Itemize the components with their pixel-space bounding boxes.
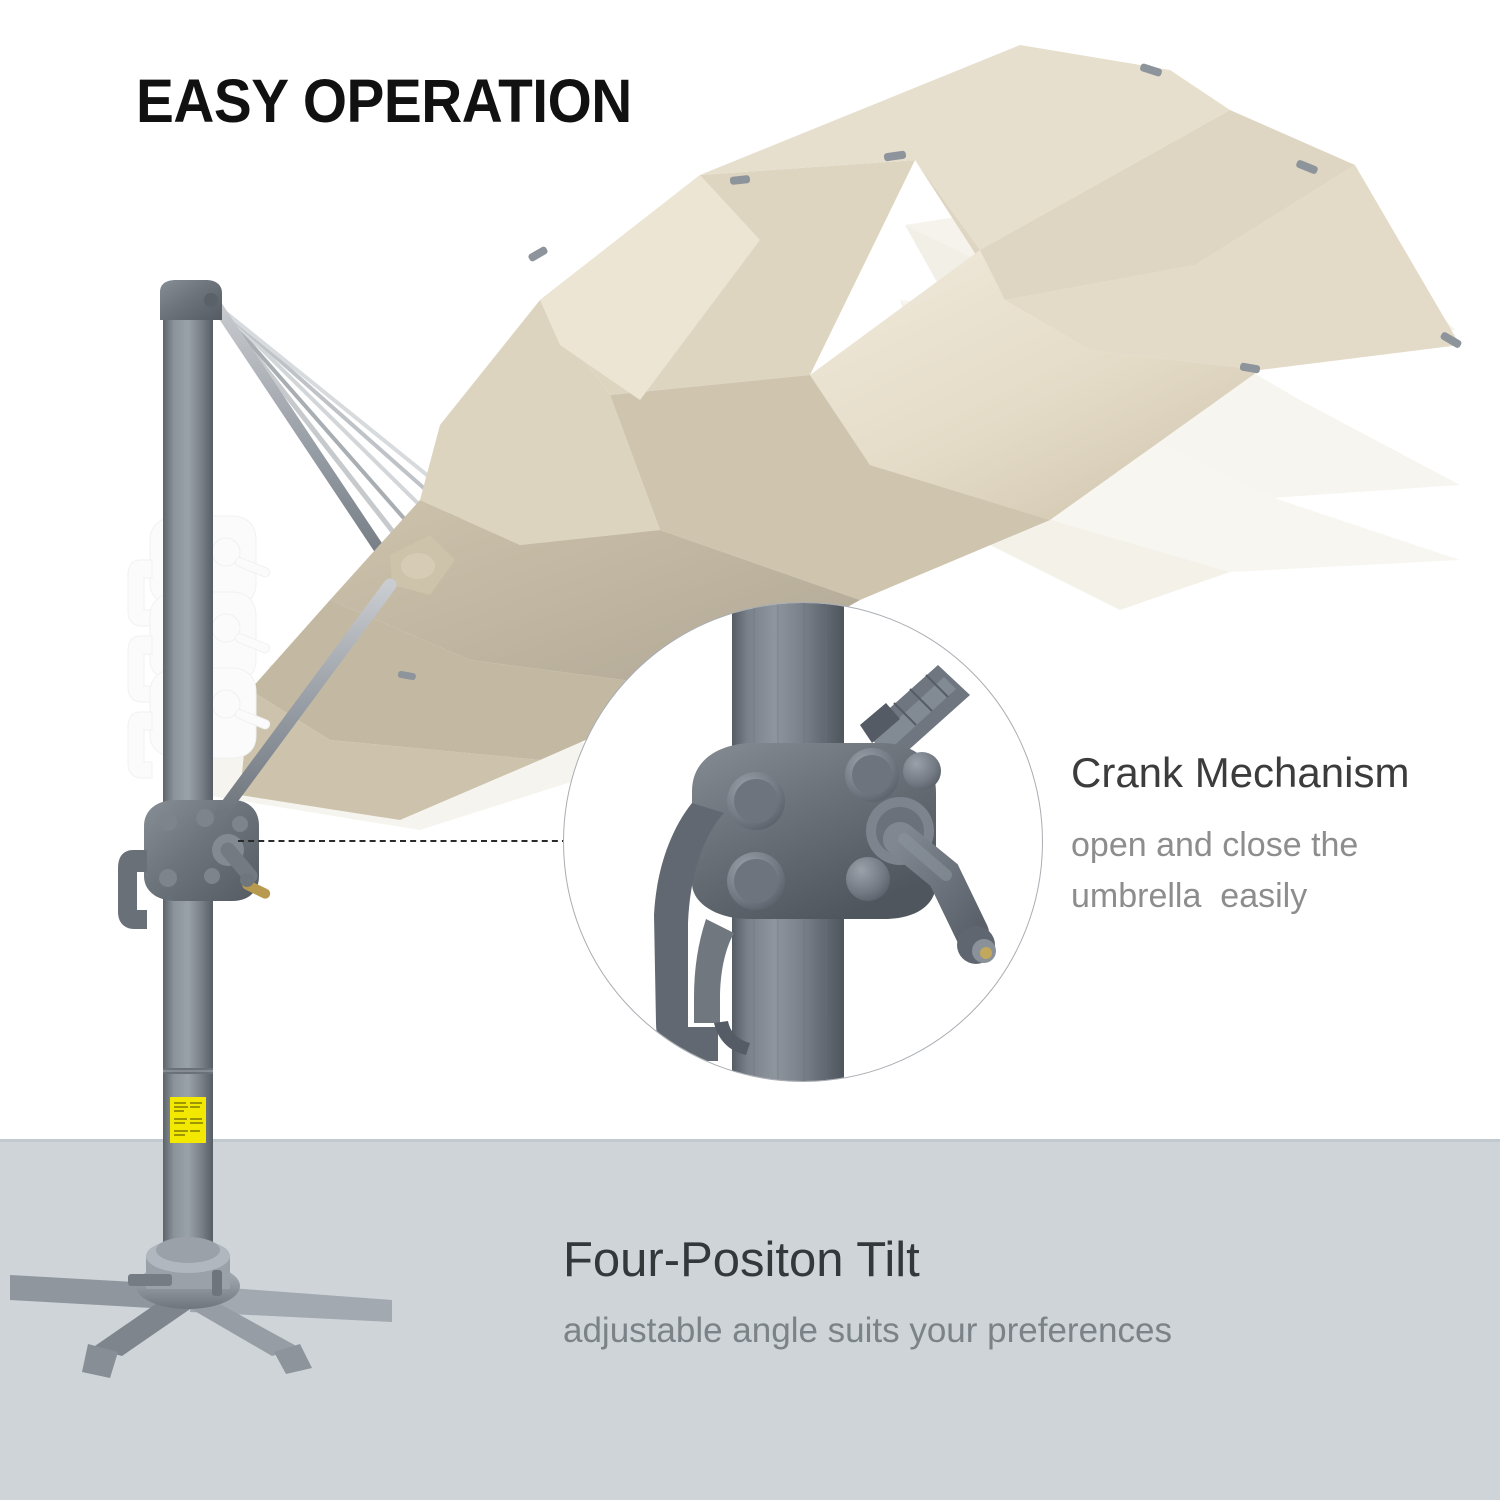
- tilt-feature-subheading: adjustable angle suits your preferences: [563, 1310, 1172, 1352]
- crank-mechanism-zoom-inset: [563, 602, 1043, 1082]
- crank-callout: Crank Mechanism open and close the umbre…: [1071, 748, 1471, 922]
- warning-label-sticker: [170, 1097, 206, 1143]
- tilt-feature-heading: Four-Positon Tilt: [563, 1234, 1172, 1288]
- leader-line: [238, 840, 568, 842]
- umbrella-cross-base: [10, 1237, 392, 1378]
- page-title: EASY OPERATION: [136, 66, 632, 136]
- tilt-feature-block: Four-Positon Tilt adjustable angle suits…: [563, 1234, 1172, 1352]
- crank-callout-body-line-1: open and close the: [1071, 820, 1471, 871]
- infographic-stage: EASY OPERATION Crank Mechanism open and …: [0, 0, 1500, 1500]
- crank-callout-body: open and close the umbrella easily: [1071, 820, 1471, 922]
- crank-mechanism-detail: [564, 603, 1042, 1081]
- crank-callout-heading: Crank Mechanism: [1071, 748, 1471, 798]
- crank-callout-body-line-2: umbrella easily: [1071, 871, 1471, 922]
